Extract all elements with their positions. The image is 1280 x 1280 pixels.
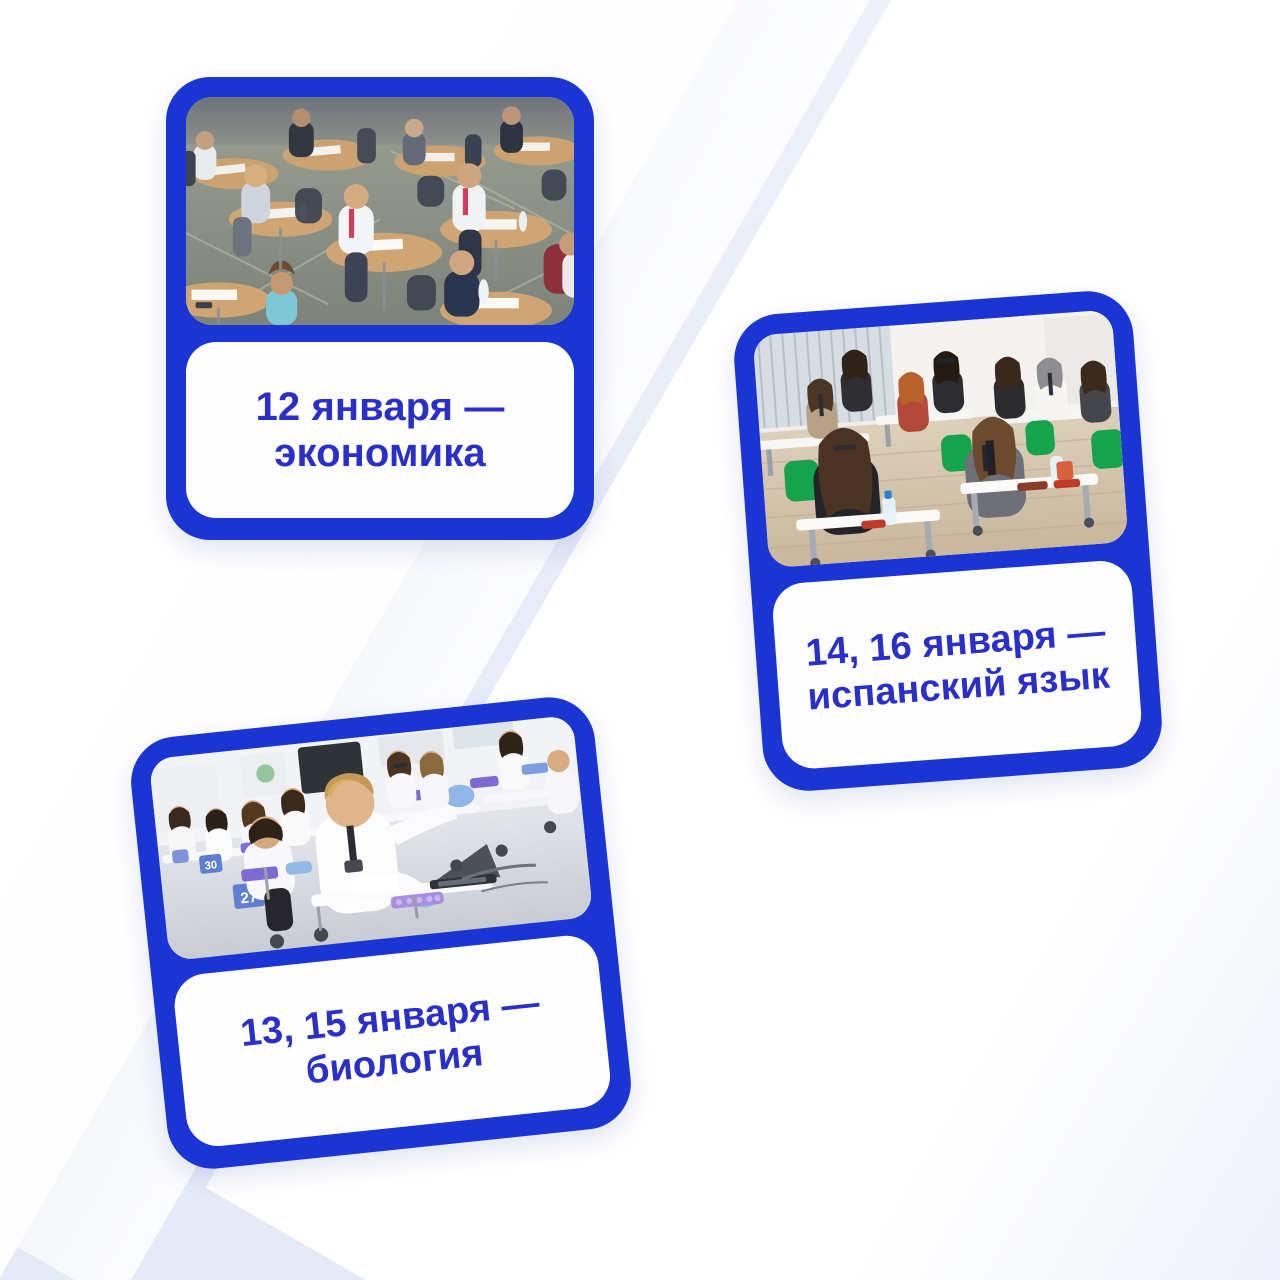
card-spanish-photo (752, 309, 1128, 568)
biology-lab-white-coats-illustration: 30 27 (149, 715, 594, 961)
card-spanish-label-text: 14, 16 января — испанский язык (803, 610, 1112, 720)
card-economics-label: 12 января — экономика (186, 342, 574, 518)
card-spanish[interactable]: 14, 16 января — испанский язык (731, 288, 1165, 794)
card-biology-label-text: 13, 15 января — биология (238, 981, 546, 1100)
poster-canvas: 12 января — экономика (0, 0, 1280, 1280)
card-spanish-label: 14, 16 января — испанский язык (771, 559, 1144, 771)
card-economics-photo (186, 97, 574, 325)
card-economics[interactable]: 12 января — экономика (166, 77, 594, 540)
exam-hall-round-tables-illustration (186, 97, 574, 325)
card-biology-label: 13, 15 января — биология (171, 932, 613, 1149)
svg-text:30: 30 (204, 859, 218, 872)
card-economics-label-text: 12 января — экономика (256, 384, 505, 477)
classroom-green-chairs-illustration (752, 309, 1128, 568)
card-biology[interactable]: 30 27 (127, 693, 636, 1173)
card-biology-photo: 30 27 (149, 715, 594, 961)
